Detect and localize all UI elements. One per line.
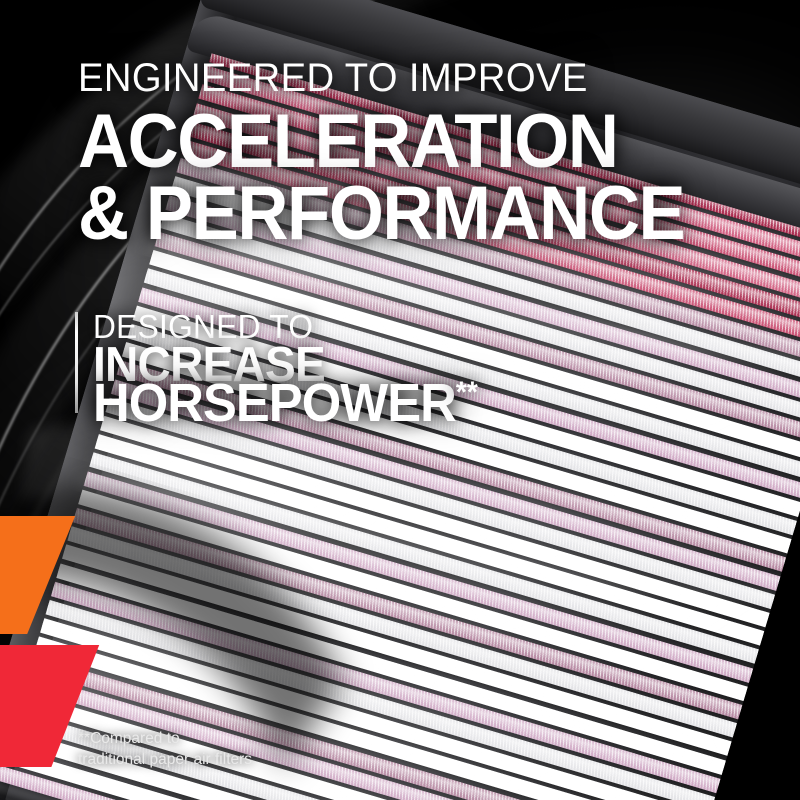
- vertical-rule-divider: [75, 312, 78, 413]
- headline-line-1: ACCELERATION: [78, 104, 618, 180]
- promo-banner: ENGINEERED TO IMPROVE ACCELERATION & PER…: [0, 0, 800, 800]
- subheadline-line-2-text: HORSEPOWER: [93, 373, 456, 433]
- headline-line-2: & PERFORMANCE: [78, 176, 684, 252]
- footnote-text: **Compared to traditional paper air filt…: [78, 728, 252, 771]
- headline-kicker: ENGINEERED TO IMPROVE: [78, 58, 588, 98]
- footnote-marker: **: [456, 376, 478, 409]
- copy-block: ENGINEERED TO IMPROVE ACCELERATION & PER…: [0, 0, 800, 800]
- subheadline-line-2: HORSEPOWER**: [93, 376, 478, 430]
